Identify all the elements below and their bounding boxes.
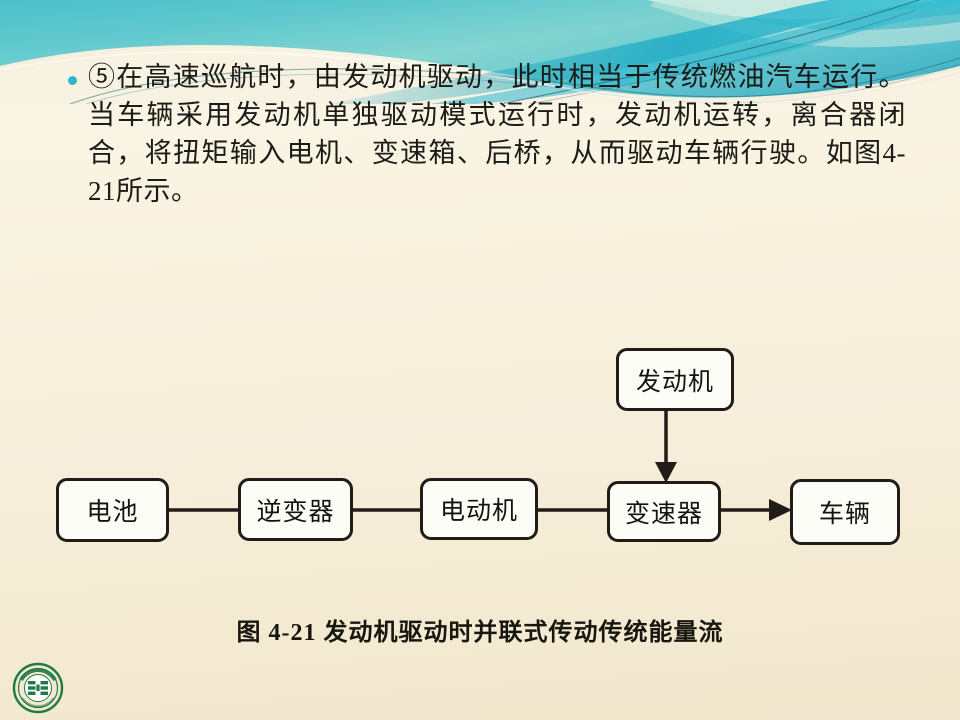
body-text-block: ⑤在高速巡航时，由发动机驱动，此时相当于传统燃油汽车运行。当车辆采用发动机单独驱… [62, 58, 906, 210]
diagram-node-battery[interactable]: 电池 [56, 478, 169, 542]
diagram-node-motor[interactable]: 电动机 [420, 478, 538, 540]
diagram-node-vehicle[interactable]: 车辆 [790, 479, 900, 545]
csf-circular-seal-logo [12, 662, 64, 714]
arrowhead-transmission-vehicle [769, 499, 792, 521]
diagram-node-engine-label: 发动机 [636, 362, 714, 398]
slide-canvas: ⑤在高速巡航时，由发动机驱动，此时相当于传统燃油汽车运行。当车辆采用发动机单独驱… [0, 0, 960, 720]
diagram-node-engine[interactable]: 发动机 [616, 348, 734, 411]
diagram-node-battery-label: 电池 [86, 492, 138, 528]
paragraph-text: ⑤在高速巡航时，由发动机驱动，此时相当于传统燃油汽车运行。当车辆采用发动机单独驱… [62, 58, 906, 210]
diagram-node-transmission[interactable]: 变速器 [607, 481, 721, 542]
diagram-node-motor-label: 电动机 [440, 491, 518, 527]
diagram-node-inverter[interactable]: 逆变器 [238, 478, 353, 541]
bullet-marker-icon [68, 76, 77, 85]
figure-caption: 图 4-21 发动机驱动时并联式传动传统能量流 [0, 612, 960, 647]
diagram-node-vehicle-label: 车辆 [819, 494, 871, 530]
arrowhead-engine-transmission [655, 462, 677, 483]
diagram-node-inverter-label: 逆变器 [256, 492, 334, 528]
diagram-node-transmission-label: 变速器 [625, 494, 703, 530]
